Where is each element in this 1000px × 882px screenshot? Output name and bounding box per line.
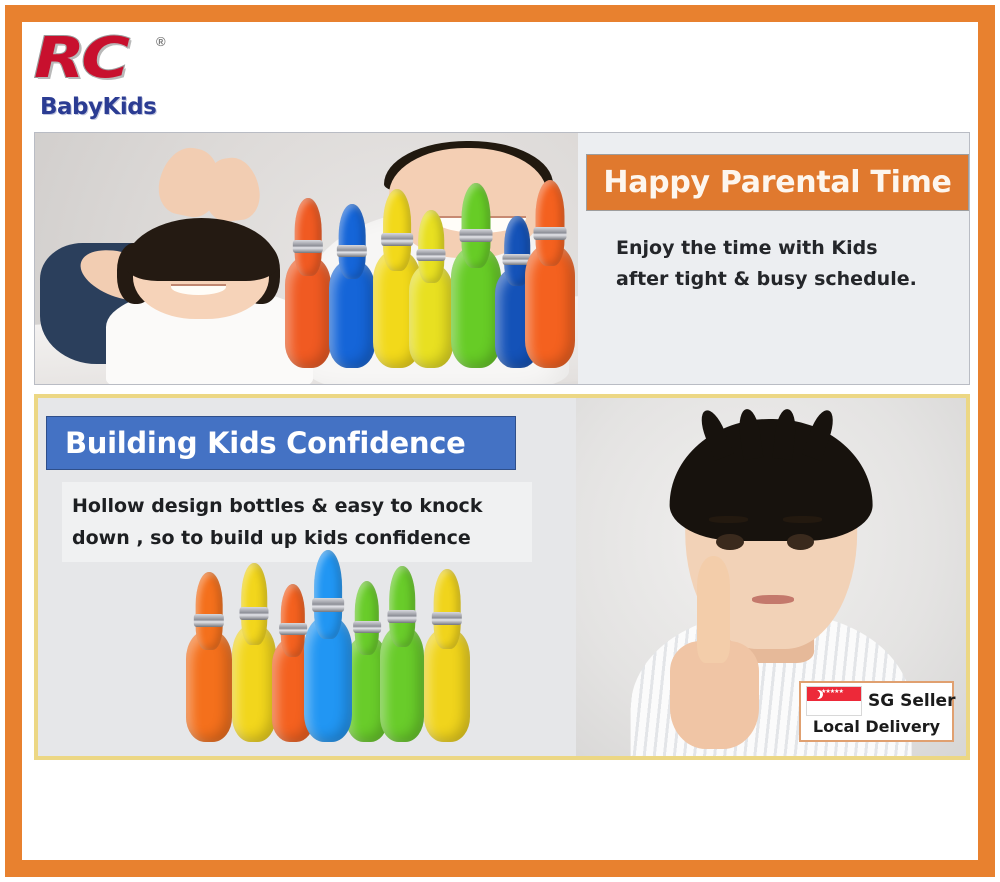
crescent-moon-icon (811, 690, 820, 699)
flag-stars-icon: ★★★★★ (821, 689, 843, 695)
bowling-pin (451, 246, 501, 368)
sg-badge-row: ★★★★★ SG Seller (806, 686, 947, 716)
banner-building-kids-confidence: Building Kids Confidence (46, 416, 516, 470)
boy-photo: ★★★★★ SG Seller Local Delivery (576, 398, 966, 756)
banner-happy-parental-time: Happy Parental Time (586, 154, 969, 211)
bottom-copy-block: Building Kids Confidence Hollow design b… (38, 398, 598, 756)
top-body-line-2: after tight & busy schedule. (616, 264, 956, 295)
bowling-pin (285, 256, 331, 368)
bowling-pin (329, 260, 375, 368)
top-body-text: Enjoy the time with Kids after tight & b… (616, 233, 956, 295)
bowling-pin (380, 626, 424, 742)
panel-happy-parental-time: Happy Parental Time Enjoy the time with … (34, 132, 970, 385)
family-photo (35, 133, 580, 384)
bowling-pin (409, 264, 453, 368)
top-body-line-1: Enjoy the time with Kids (616, 233, 956, 264)
sg-seller-label: SG Seller (868, 691, 955, 711)
bowling-pin (424, 628, 470, 742)
bowling-pins-group-bottom (186, 578, 472, 742)
bowling-pins-group-top (285, 178, 580, 368)
orange-outer-frame: RC ® BabyKids (5, 5, 995, 877)
panel-building-kids-confidence: Building Kids Confidence Hollow design b… (34, 394, 970, 760)
frame-inner-content: RC ® BabyKids (22, 22, 978, 860)
banner-top-title: Happy Parental Time (603, 165, 951, 200)
product-listing-image: RC ® BabyKids (0, 0, 1000, 882)
registered-trademark-icon: ® (156, 34, 166, 49)
boy-eyebrow (709, 516, 748, 523)
bottom-body-line-1: Hollow design bottles & easy to knock (72, 490, 522, 522)
bottom-body-line-2: down , so to build up kids confidence (72, 522, 522, 554)
girl-hair (125, 218, 278, 281)
boy-eye (787, 534, 814, 550)
bowling-pin (232, 624, 276, 742)
boy-hair (670, 419, 873, 541)
brand-logo[interactable]: RC ® BabyKids (34, 28, 184, 126)
local-delivery-label: Local Delivery (806, 717, 947, 736)
bottom-body-text: Hollow design bottles & easy to knock do… (62, 482, 532, 562)
top-copy-block: Happy Parental Time Enjoy the time with … (578, 133, 969, 384)
boy-eyebrow (783, 516, 822, 523)
logo-sub-babykids: BabyKids (40, 94, 156, 120)
banner-bottom-title: Building Kids Confidence (65, 426, 466, 460)
logo-mark-rc: RC (34, 28, 126, 90)
boy-mouth (752, 595, 795, 604)
bowling-pin (186, 630, 232, 742)
boy-eye (716, 534, 743, 550)
bowling-pin (525, 244, 575, 368)
sg-seller-badge: ★★★★★ SG Seller Local Delivery (799, 681, 954, 742)
singapore-flag-icon: ★★★★★ (806, 686, 862, 716)
bowling-pin (304, 616, 352, 742)
thumb-finger (697, 556, 730, 663)
